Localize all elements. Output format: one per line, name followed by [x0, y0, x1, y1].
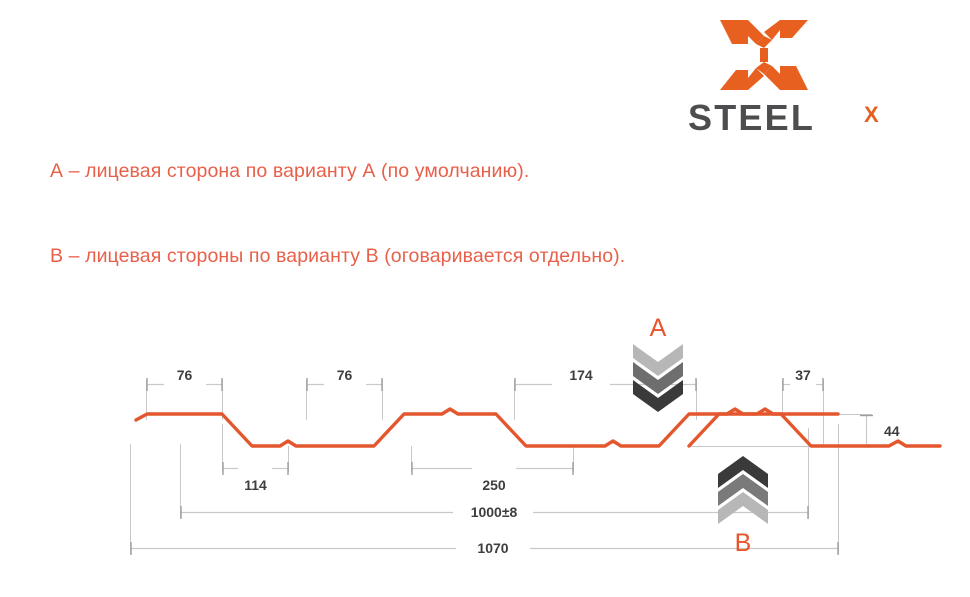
dimension-label-114: 114 — [244, 477, 267, 493]
dimension-250: 250 — [412, 462, 573, 493]
dimension-114: 114 — [223, 462, 288, 493]
dimension-label-44: 44 — [884, 423, 900, 439]
dimension-37: 37 — [783, 367, 823, 391]
marker-b-chevrons-up-icon — [718, 456, 768, 524]
dimension-76-left: 76 — [147, 367, 222, 391]
brand-logo: STEEL X — [688, 18, 904, 140]
marker-a-group: А — [633, 314, 683, 412]
dimension-label-37: 37 — [795, 367, 811, 383]
marker-a-letter: А — [650, 314, 667, 342]
dimension-76-mid: 76 — [307, 367, 382, 391]
dimension-1070: 1070 — [131, 540, 838, 556]
caption-variant-b: В – лицевая стороны по варианту В (огова… — [50, 245, 625, 268]
dimension-label-76-mid: 76 — [337, 367, 353, 383]
marker-b-group: В — [718, 456, 768, 557]
steelx-x-mark-icon — [718, 18, 810, 92]
wordmark-x-text: X — [864, 102, 879, 127]
marker-b-letter: В — [735, 529, 752, 557]
caption-variant-a: А – лицевая сторона по варианту А (по ум… — [50, 160, 529, 183]
dimension-label-76-left: 76 — [177, 367, 193, 383]
marker-a-chevrons-down-icon — [633, 344, 683, 412]
wordmark-steel-text: STEEL — [688, 100, 815, 138]
dimension-label-174: 174 — [569, 367, 593, 383]
dimension-label-1000: 1000±8 — [471, 504, 518, 520]
profile-technical-drawing: 76 76 174 37 44 114 — [0, 296, 970, 586]
steelx-wordmark: STEEL X — [688, 100, 904, 138]
dimension-1000: 1000±8 — [181, 504, 808, 520]
dimension-label-1070: 1070 — [477, 540, 508, 556]
dimension-label-250: 250 — [482, 477, 506, 493]
